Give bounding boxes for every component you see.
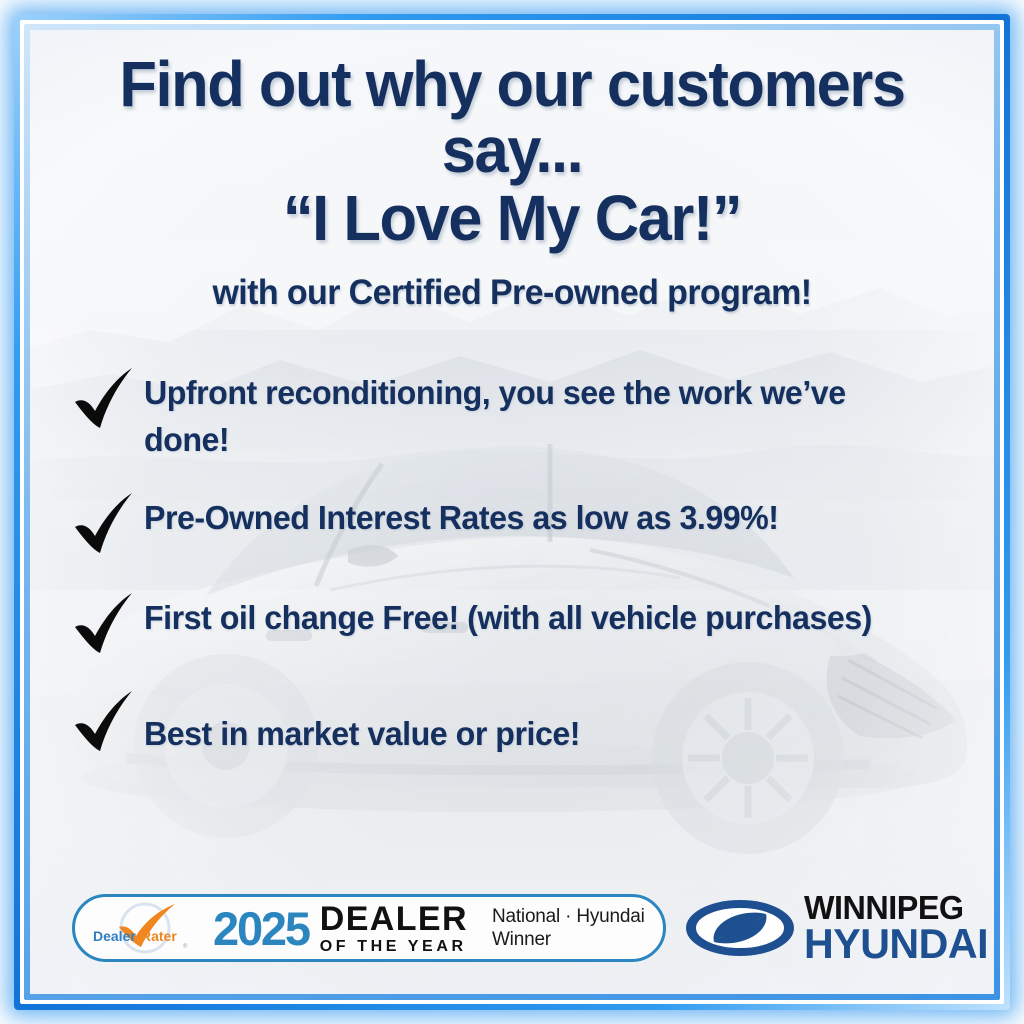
hyundai-h-logo-icon — [684, 898, 796, 958]
headline-line-3: “I Love My Car!” — [78, 186, 946, 252]
benefits-list: Upfront reconditioning, you see the work… — [70, 368, 948, 804]
award-title-block: DEALER OF THE YEAR — [320, 902, 468, 955]
svg-text:Dealer: Dealer — [93, 928, 136, 944]
award-qualifier-line-1: National · Hyundai — [492, 906, 645, 927]
list-item: First oil change Free! (with all vehicle… — [70, 593, 948, 667]
svg-text:®: ® — [183, 943, 188, 950]
poster-canvas: Find out why our customers say... “I Lov… — [30, 30, 994, 994]
list-item: Pre-Owned Interest Rates as low as 3.99%… — [70, 493, 948, 567]
dealership-name-line-2: HYUNDAI — [804, 924, 988, 964]
dealership-name: WINNIPEG HYUNDAI — [804, 892, 992, 964]
footer: Dealer Rater ® 2025 DEALER OF THE YEAR N… — [72, 886, 960, 970]
headline-line-1: Find out why our customers — [78, 52, 946, 118]
headline: Find out why our customers say... “I Lov… — [78, 52, 946, 252]
dealership-name-line-1: WINNIPEG — [804, 892, 964, 923]
list-item-label: First oil change Free! (with all vehicle… — [144, 593, 872, 642]
check-mark-icon — [70, 487, 144, 561]
check-mark-icon — [70, 587, 144, 661]
award-title: DEALER — [320, 902, 468, 936]
subheadline: with our Certified Pre-owned program! — [74, 273, 951, 313]
headline-line-2: say... — [78, 118, 946, 184]
list-item-label: Upfront reconditioning, you see the work… — [144, 368, 928, 464]
award-qualifier-line-2: Winner — [492, 929, 551, 950]
list-item-label: Best in market value or price! — [144, 701, 580, 758]
dealer-of-the-year-badge: Dealer Rater ® 2025 DEALER OF THE YEAR N… — [72, 894, 666, 962]
svg-text:Rater: Rater — [141, 928, 177, 944]
list-item-label: Pre-Owned Interest Rates as low as 3.99%… — [144, 493, 778, 542]
promotional-poster: Find out why our customers say... “I Lov… — [0, 0, 1024, 1024]
award-qualifier: National · Hyundai Winner — [492, 905, 645, 951]
list-item: Best in market value or price! — [70, 701, 948, 775]
list-item: Upfront reconditioning, you see the work… — [70, 368, 948, 464]
check-mark-icon — [70, 362, 144, 436]
award-subtitle: OF THE YEAR — [320, 939, 468, 955]
award-year: 2025 — [213, 905, 309, 952]
check-mark-icon — [70, 685, 144, 759]
dealerrater-logo: Dealer Rater ® — [89, 901, 201, 955]
dealership-logo: WINNIPEG HYUNDAI — [684, 892, 994, 964]
